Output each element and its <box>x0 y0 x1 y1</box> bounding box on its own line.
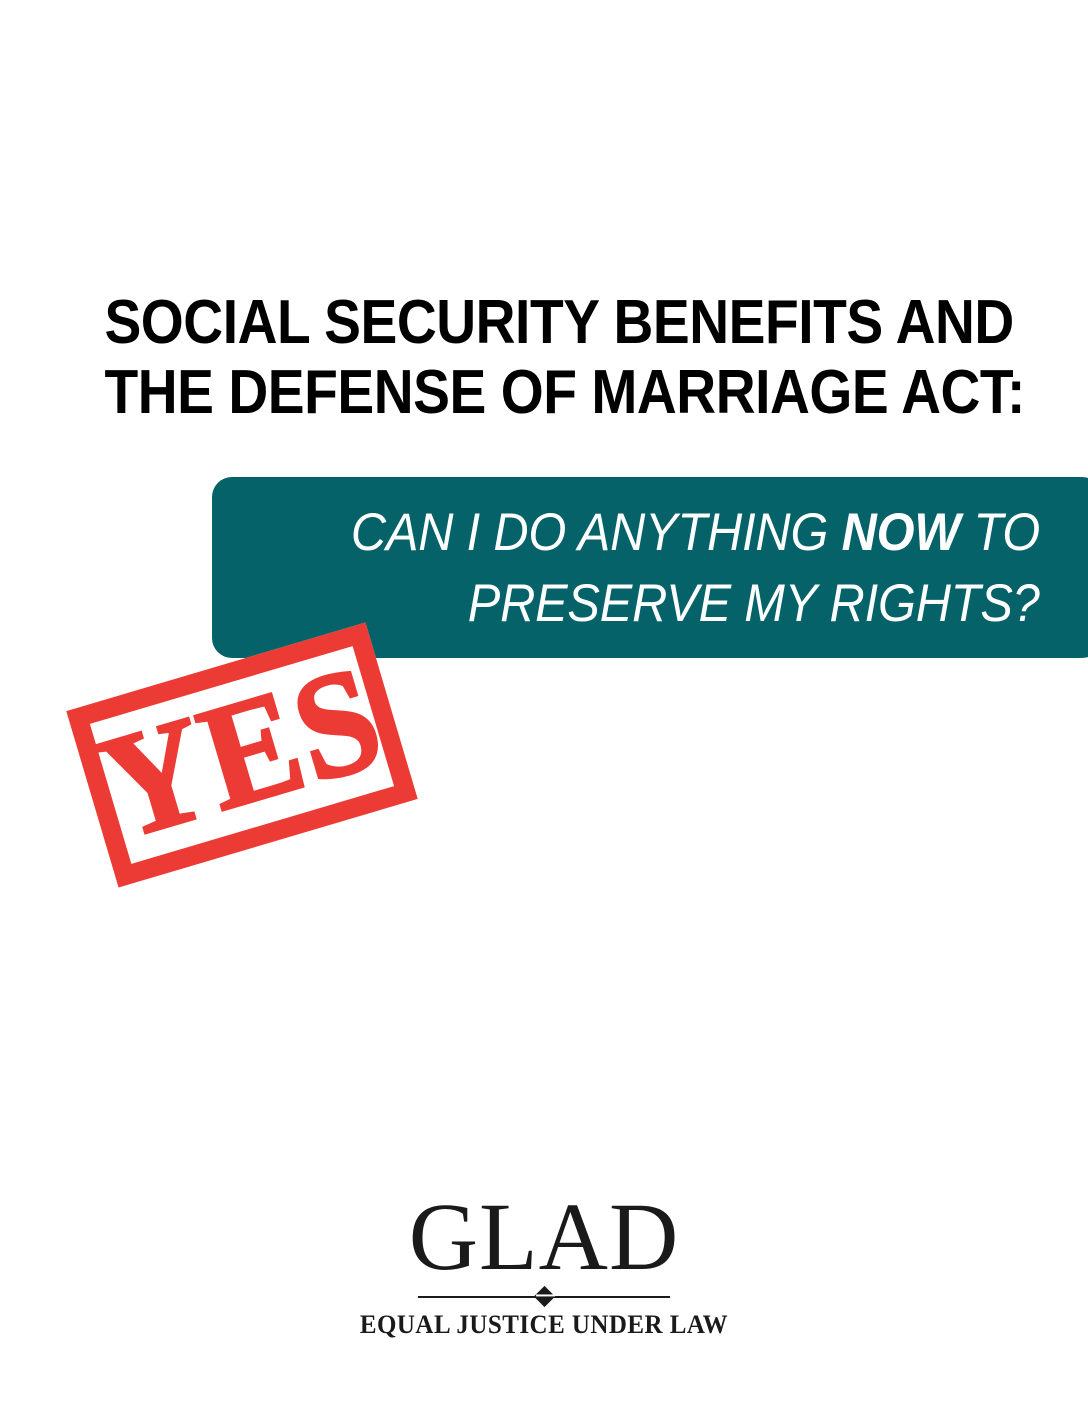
banner-line-1-before: CAN I DO ANYTHING <box>351 503 842 562</box>
glad-logo-wordmark: GLAD <box>0 1192 1088 1282</box>
title-line-2: THE DEFENSE OF MARRIAGE ACT: <box>104 358 985 428</box>
title-line-1: SOCIAL SECURITY BENEFITS AND <box>104 288 985 358</box>
glad-logo-divider <box>418 1286 670 1306</box>
banner-line-2: PRESERVE MY RIGHTS? <box>468 568 1040 639</box>
glad-logo: GLAD EQUAL JUSTICE UNDER LAW <box>0 1192 1088 1340</box>
banner-line-1-after: TO <box>960 503 1040 562</box>
yes-stamp-label: YES <box>85 640 400 869</box>
yes-stamp: YES <box>66 622 417 887</box>
banner-line-1: CAN I DO ANYTHING NOW TO <box>351 497 1040 568</box>
diamond-icon <box>534 1286 555 1307</box>
banner-line-1-emphasis: NOW <box>842 503 961 562</box>
page-canvas: SOCIAL SECURITY BENEFITS AND THE DEFENSE… <box>0 0 1088 1408</box>
glad-logo-tagline: EQUAL JUSTICE UNDER LAW <box>22 1310 1066 1340</box>
page-title: SOCIAL SECURITY BENEFITS AND THE DEFENSE… <box>50 288 1040 428</box>
